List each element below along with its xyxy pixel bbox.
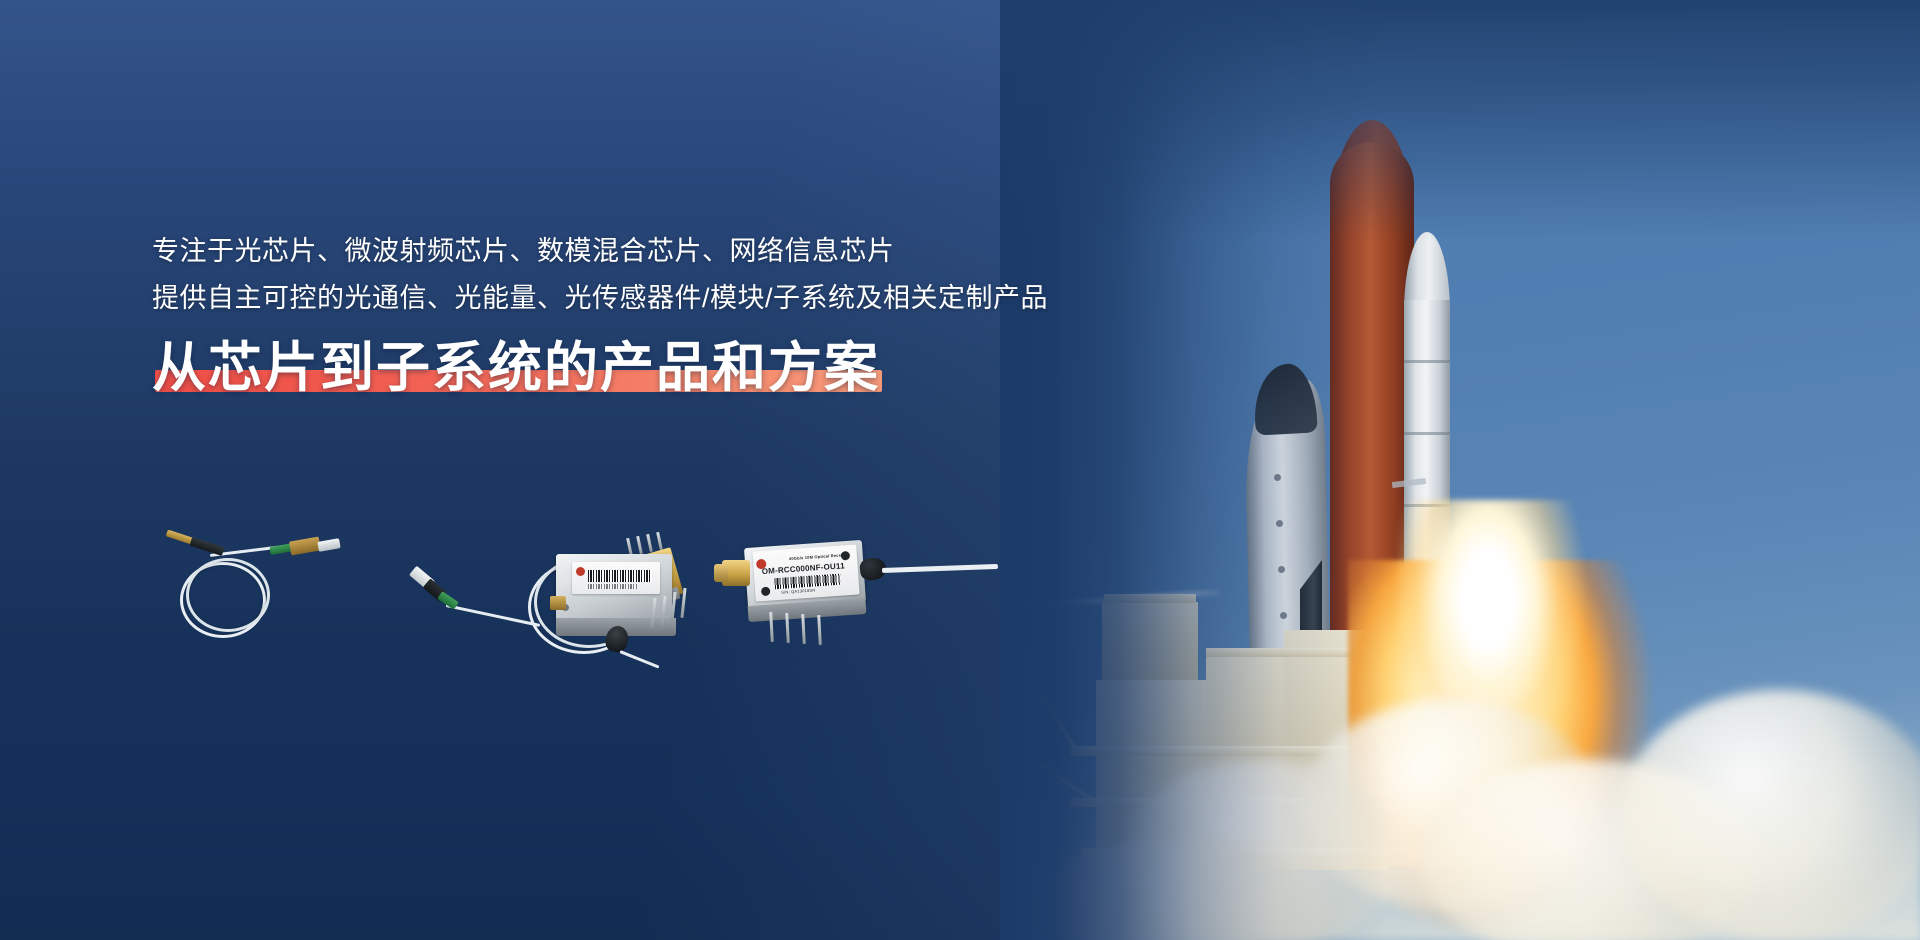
package-pin: [656, 532, 663, 550]
headline-group: 从芯片到子系统的产品和方案: [152, 336, 880, 400]
coax-connector: [550, 596, 566, 610]
module-pin: [801, 614, 806, 644]
page-title: 从芯片到子系统的产品和方案: [152, 336, 880, 400]
module-label: 40Gb/s 10M Optical Receiver OM-RCC000NF-…: [752, 544, 859, 601]
fiber-lead: [882, 564, 998, 573]
product-showcase-row: 40Gb/s 10M Optical Receiver OM-RCC000NF-…: [150, 528, 1030, 678]
booster-band: [1404, 432, 1450, 435]
fc-connector-body: [289, 537, 321, 556]
connector-boot: [189, 537, 224, 556]
tower-beam: [1104, 594, 1196, 603]
label-marker-dot: [761, 587, 771, 597]
module-pin: [817, 615, 822, 645]
hero-subline-1: 专注于光芯片、微波射频芯片、数模混合芯片、网络信息芯片: [152, 228, 1152, 275]
module-label: [572, 562, 660, 594]
sma-collar: [714, 564, 728, 582]
package-pin: [646, 534, 653, 552]
booster-band: [1404, 360, 1450, 363]
brand-logo-icon: [576, 567, 585, 576]
package-pin: [636, 536, 643, 554]
hero-copy: 专注于光芯片、微波射频芯片、数模混合芯片、网络信息芯片 提供自主可控的光通信、光…: [152, 228, 1152, 400]
barcode-icon: [588, 570, 652, 582]
tower-block: [1102, 602, 1198, 686]
barcode-icon: [588, 584, 638, 589]
fiber-coil: [186, 558, 270, 632]
module-label-serial: S/N: QA13018SN: [781, 587, 815, 594]
label-marker-dot: [841, 551, 851, 561]
fiber-lead: [446, 604, 541, 627]
space-shuttle-launch-photo: [1000, 0, 1920, 940]
ground-haze: [1000, 740, 1920, 940]
hero-banner: 专注于光芯片、微波射频芯片、数模混合芯片、网络信息芯片 提供自主可控的光通信、光…: [0, 0, 1920, 940]
fiber-lead: [619, 650, 659, 669]
orbiter-window: [1274, 474, 1281, 481]
hero-subline-2: 提供自主可控的光通信、光能量、光传感器件/模块/子系统及相关定制产品: [152, 275, 1152, 322]
orbiter-window: [1276, 520, 1283, 527]
connector-cap: [317, 538, 340, 552]
